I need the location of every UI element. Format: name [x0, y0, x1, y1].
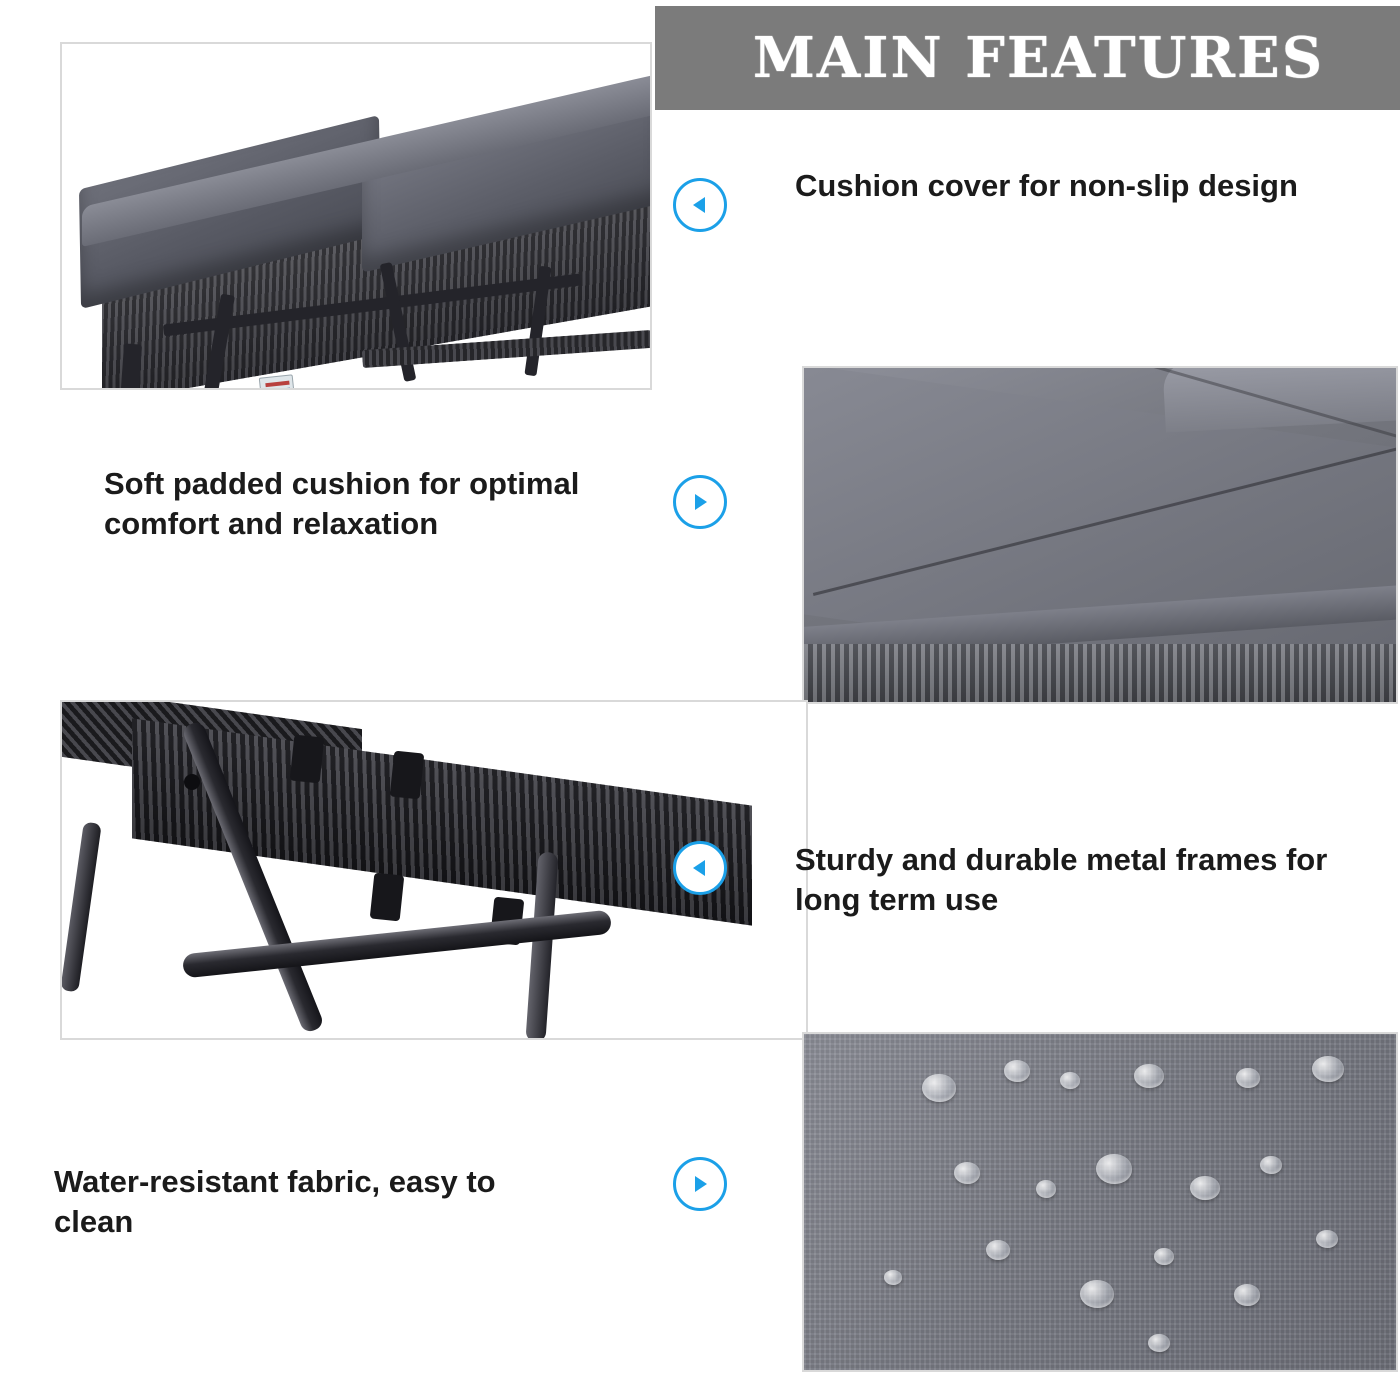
arrow-right-icon-soft-padded-cushion — [673, 475, 727, 529]
water-droplet — [1236, 1068, 1260, 1088]
water-droplet — [1036, 1180, 1056, 1198]
water-droplet — [1080, 1280, 1114, 1308]
arrow-right-icon-water-resistant-fabric — [673, 1157, 727, 1211]
feature-image-soft-padded-cushion — [802, 366, 1398, 704]
frame-leg — [120, 343, 142, 390]
water-droplet — [986, 1240, 1010, 1260]
rattan-base-detail — [804, 644, 1398, 704]
water-droplet — [954, 1162, 980, 1184]
feature-text-soft-padded-cushion: Soft padded cushion for optimal comfort … — [104, 464, 664, 543]
feature-image-cushion-cover — [60, 42, 652, 390]
feature-text-water-resistant-fabric: Water-resistant fabric, easy to clean — [54, 1162, 574, 1241]
product-tag — [259, 374, 296, 390]
water-droplet — [1134, 1064, 1164, 1088]
frame-bolt — [184, 774, 200, 790]
fabric-texture — [804, 1034, 1396, 1370]
feature-text-metal-frame: Sturdy and durable metal frames for long… — [795, 840, 1375, 919]
feature-image-water-resistant-fabric — [802, 1032, 1398, 1372]
feature-text-cushion-cover: Cushion cover for non-slip design — [795, 166, 1355, 206]
water-droplet — [1148, 1334, 1170, 1352]
frame-clip-1 — [290, 735, 325, 784]
water-droplet — [922, 1074, 956, 1102]
water-droplet — [1260, 1156, 1282, 1174]
metal-leg — [60, 822, 101, 993]
water-droplet — [884, 1270, 902, 1285]
water-droplet — [1154, 1248, 1174, 1265]
water-droplet — [1316, 1230, 1338, 1248]
frame-clip-2 — [390, 751, 425, 800]
water-droplet — [1096, 1154, 1132, 1184]
water-droplet — [1312, 1056, 1344, 1082]
page-title: MAIN FEATURES — [655, 25, 1400, 91]
features-page: MAIN FEATURES Cushion cover for non-slip… — [0, 0, 1400, 1400]
arrow-left-icon-metal-frame — [673, 841, 727, 895]
header-band: MAIN FEATURES — [655, 6, 1400, 110]
water-droplet — [1190, 1176, 1220, 1200]
water-droplet — [1060, 1072, 1080, 1089]
water-droplet — [1004, 1060, 1030, 1082]
water-droplet — [1234, 1284, 1260, 1306]
frame-clip-3 — [370, 873, 405, 922]
arrow-left-icon-cushion-cover — [673, 178, 727, 232]
